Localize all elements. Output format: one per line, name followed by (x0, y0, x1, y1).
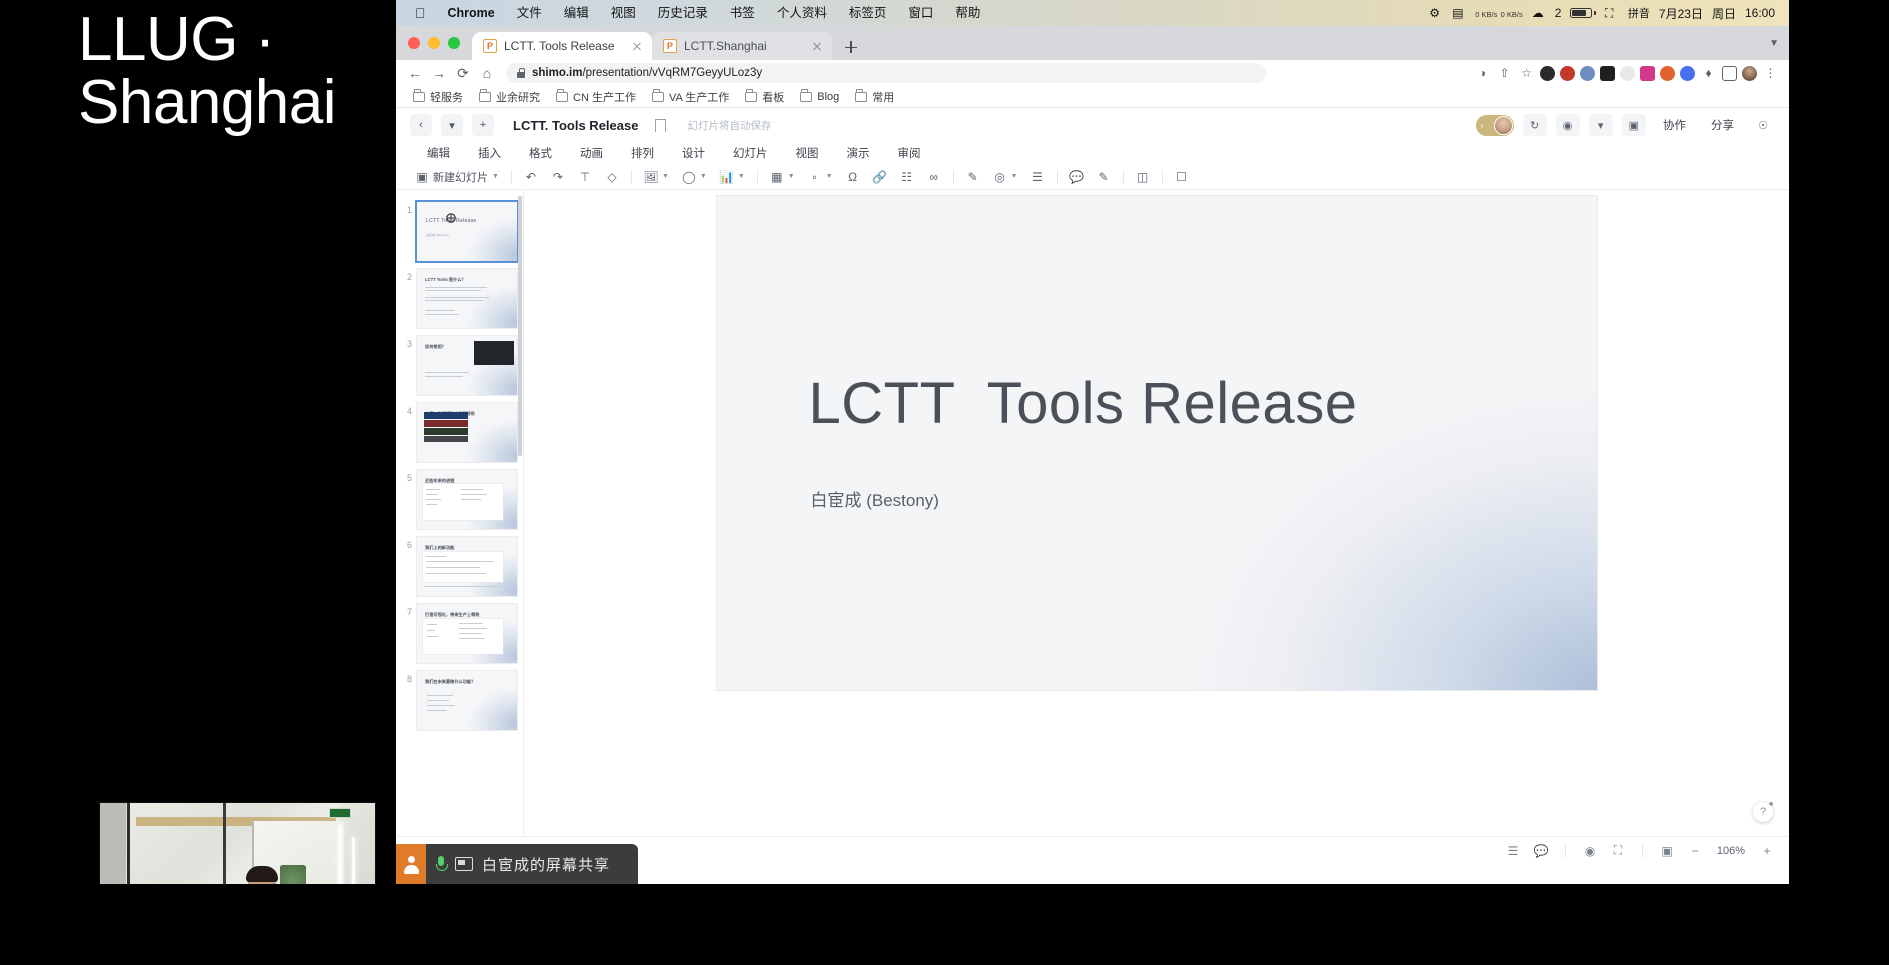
bookmark-label: 业余研究 (496, 89, 540, 105)
browser-tab-lctt-tools-release[interactable]: P LCTT. Tools Release (472, 32, 652, 60)
forward-button[interactable]: → (428, 62, 450, 84)
network-speed-indicator[interactable]: 0 KB/s 0 KB/s (1475, 6, 1523, 20)
address-bar[interactable]: shimo.im/presentation/vVqRM7GeyyULoz3y (506, 63, 1266, 83)
insert-shape-button[interactable]: ◯▼ (677, 168, 712, 186)
logo-line-2: Shanghai (78, 68, 336, 137)
note-icon: ◫ (1136, 170, 1150, 184)
frame-icon: ☐ (1175, 170, 1189, 184)
app-add-button[interactable]: + (472, 114, 494, 136)
slide-thumb-canvas[interactable]: 我们上的新功能 (417, 537, 517, 596)
animation-button[interactable]: ◎▼ (988, 168, 1023, 186)
highlight-button[interactable]: ✎ (1092, 168, 1116, 186)
projector-button[interactable]: ▣ (1622, 114, 1646, 136)
redo-icon: ↷ (551, 170, 565, 184)
app-menu-edit[interactable]: 编辑 (414, 145, 463, 161)
slide-thumbnail-5[interactable]: 5 近些年来的进程 (396, 466, 523, 533)
slide-thumb-canvas[interactable]: 我们在未来要做什么功能？ (417, 671, 517, 730)
close-window-button[interactable] (408, 37, 420, 49)
link-icon: 🔗 (873, 170, 887, 184)
slide-thumb-subtitle: 白宦成 (Bestony) (426, 233, 449, 237)
slide-thumbnail-7[interactable]: 7 打造可视化，带来生产上等效 (396, 600, 523, 667)
fullscreen-icon[interactable]: ⛶ (1610, 843, 1626, 859)
insert-connector-button[interactable]: ∞ (922, 168, 946, 186)
bookmark-label: Blog (817, 91, 839, 103)
folder-icon (556, 92, 568, 102)
bookmark-cn-production[interactable]: CN 生产工作 (549, 87, 643, 107)
app-menu-review[interactable]: 审阅 (885, 145, 934, 161)
slide-thumbnail-1[interactable]: 1 LCTT Tools Release 白宦成 (Bestony) (396, 198, 523, 265)
chevron-down-icon[interactable]: ▼ (1769, 38, 1779, 49)
network-upload: 0 KB/s (1475, 10, 1497, 19)
slide-title-text[interactable]: LCTT Tools Release (809, 370, 1358, 437)
menubar-item-bookmarks[interactable]: 书签 (719, 0, 766, 26)
bookmark-qingfuwu[interactable]: 轻服务 (406, 87, 470, 107)
webcam-speaker-hair (246, 866, 278, 882)
slide-thumb-canvas[interactable]: 打造可视化，带来生产上等效 (417, 604, 517, 663)
slide-number: 5 (400, 470, 412, 483)
extension-icon-3[interactable] (1580, 66, 1595, 81)
display-icon[interactable]: ▤ (1452, 6, 1466, 20)
zoom-in-button[interactable]: + (1759, 843, 1775, 859)
document-title[interactable]: LCTT. Tools Release (513, 118, 638, 133)
slide-thumb-title: 我们在未来要做什么功能？ (425, 679, 475, 685)
logo-line-1: LLUG · (78, 5, 275, 74)
slide-subtitle-text[interactable]: 白宦成 (Bestony) (811, 486, 939, 511)
profile-avatar[interactable] (1742, 66, 1757, 81)
cloud-icon[interactable]: ☁ (1532, 6, 1546, 20)
folder-icon (413, 92, 425, 102)
share-icon[interactable]: ⇧ (1496, 65, 1513, 82)
slide-number: 3 (400, 336, 412, 349)
slide-thumbnail-6[interactable]: 6 我们上的新功能 (396, 533, 523, 600)
chrome-menu-icon[interactable]: ⋮ (1762, 65, 1779, 82)
extension-icon-6[interactable] (1640, 66, 1655, 81)
status-bar-actions: ☰ 💬 ◉ ⛶ ▣ − 106% + (1505, 843, 1775, 859)
input-method-indicator[interactable]: 拼音 (1628, 5, 1650, 21)
menubar-date[interactable]: 7月23日 (1659, 5, 1703, 22)
extension-icon-5[interactable] (1620, 66, 1635, 81)
app-back-button[interactable]: ‹ (410, 114, 432, 136)
maximize-window-button[interactable] (448, 37, 460, 49)
slide-panel-scrollbar[interactable] (518, 196, 522, 456)
letterbox-right (1789, 0, 1889, 965)
comment-icon: 💬 (1070, 170, 1084, 184)
folder-icon (479, 92, 491, 102)
chart-icon: 📊 (720, 170, 734, 184)
bookmark-yeyu-yanjiu[interactable]: 业余研究 (472, 87, 547, 107)
close-tab-icon[interactable] (810, 39, 824, 53)
menubar-item-tabs[interactable]: 标签页 (838, 0, 898, 26)
bookmark-label: VA 生产工作 (669, 89, 729, 105)
pen-icon: ✎ (966, 170, 980, 184)
image-icon: 🖼 (644, 170, 658, 184)
tab-title: LCTT. Tools Release (504, 39, 623, 53)
network-download: 0 KB/s (1501, 10, 1523, 19)
bookmark-blog[interactable]: Blog (793, 89, 846, 105)
toolbar-divider (1123, 170, 1124, 184)
airplay-icon[interactable]: ⛶ (1605, 6, 1619, 20)
align-button[interactable]: ☰ (1026, 168, 1050, 186)
minimize-window-button[interactable] (428, 37, 440, 49)
new-slide-button[interactable]: ▣ 新建幻灯片 ▼ (410, 167, 504, 187)
slide-number: 6 (400, 537, 412, 550)
folder-icon (745, 92, 757, 102)
battery-body (1570, 8, 1592, 18)
comment-icon[interactable]: 💬 (1533, 843, 1549, 859)
browser-tab-strip: P LCTT. Tools Release P LCTT.Shanghai ▼ (396, 26, 1789, 60)
bookmark-label: 看板 (762, 89, 784, 105)
chevron-left-icon: ‹ (1481, 120, 1484, 130)
slide-thumb-terminal (474, 341, 514, 365)
animation-icon: ◎ (993, 170, 1007, 184)
apple-logo-icon[interactable]:  (404, 0, 437, 26)
app-body: 1 LCTT Tools Release 白宦成 (Bestony) 2 LCT… (396, 190, 1789, 836)
toolbar-divider (511, 170, 512, 184)
slide-thumb-title: 我们上的新功能 (425, 545, 454, 551)
slide-number: 1 (400, 202, 412, 215)
screen-share-label: 白宦成的屏幕共享 (482, 854, 610, 875)
microphone-icon[interactable] (435, 856, 446, 873)
insert-textbox-button[interactable]: ▫▼ (803, 168, 838, 186)
bookmark-label: 常用 (872, 89, 894, 105)
menubar-item-help[interactable]: 帮助 (944, 0, 991, 26)
slide-number: 7 (400, 604, 412, 617)
extensions-puzzle-icon[interactable]: ♦ (1700, 65, 1717, 82)
slide-background (417, 202, 517, 261)
extension-icon-8[interactable] (1680, 66, 1695, 81)
tab-favicon: P (483, 39, 497, 53)
menubar-item-chrome[interactable]: Chrome (437, 0, 506, 26)
grid-icon: ☷ (900, 170, 914, 184)
table-icon: ▦ (770, 170, 784, 184)
chevron-down-icon[interactable]: ▼ (826, 173, 833, 180)
home-button[interactable]: ⌂ (476, 62, 498, 84)
chevron-down-icon[interactable]: ▼ (662, 173, 669, 180)
insert-link-button[interactable]: 🔗 (868, 168, 892, 186)
new-slide-label: 新建幻灯片 (433, 169, 488, 185)
statusbar-divider (1565, 844, 1566, 858)
macos-menubar:  Chrome 文件 编辑 视图 历史记录 书签 个人资料 标签页 窗口 帮助… (396, 0, 1789, 26)
slide-number: 2 (400, 269, 412, 282)
lock-icon (517, 68, 525, 78)
toolbar-divider (1162, 170, 1163, 184)
avatar (1494, 116, 1513, 135)
translate-icon[interactable]: ◑ (1474, 65, 1491, 82)
screen-share-participant-badge[interactable] (396, 844, 426, 884)
folder-icon (652, 92, 664, 102)
insert-image-button[interactable]: 🖼▼ (639, 168, 674, 186)
highlight-icon: ✎ (1097, 170, 1111, 184)
browser-window:  Chrome 文件 编辑 视图 历史记录 书签 个人资料 标签页 窗口 帮助… (396, 0, 1789, 884)
app-menu-arrange[interactable]: 排列 (618, 145, 667, 161)
close-tab-icon[interactable] (630, 39, 644, 53)
menubar-item-edit[interactable]: 编辑 (553, 0, 600, 26)
chevron-down-icon[interactable]: ▼ (700, 173, 707, 180)
frame-button[interactable]: ☐ (1170, 168, 1194, 186)
statusbar-divider (1642, 844, 1643, 858)
slide-thumb-title: LCTT Tools 是什么？ (425, 277, 466, 283)
new-tab-button[interactable] (838, 34, 864, 60)
clear-format-button[interactable]: ◇ (600, 168, 624, 186)
webcam-exit-sign (329, 808, 351, 818)
menubar-item-view[interactable]: 视图 (600, 0, 647, 26)
fit-to-screen-icon[interactable]: ▣ (1659, 843, 1675, 859)
app-menubar: 编辑 插入 格式 动画 排列 设计 幻灯片 视图 演示 审阅 (396, 142, 1789, 164)
present-dropdown-button[interactable]: ▾ (1589, 114, 1613, 136)
bookmark-flag-icon[interactable] (655, 119, 666, 132)
tab-title: LCTT.Shanghai (684, 39, 803, 53)
back-button[interactable]: ← (404, 62, 426, 84)
app-menu-insert[interactable]: 插入 (465, 145, 514, 161)
app-header: ‹ ▾ + LCTT. Tools Release 幻灯片将自动保存 ‹ ↻ ◉… (396, 108, 1789, 142)
slide-thumbnail-panel[interactable]: 1 LCTT Tools Release 白宦成 (Bestony) 2 LCT… (396, 190, 524, 836)
extension-icon-4[interactable] (1600, 66, 1615, 81)
browser-toolbar: ← → ⟳ ⌂ shimo.im/presentation/vVqRM7Geyy… (396, 60, 1789, 86)
extension-icon-1[interactable] (1540, 66, 1555, 81)
zoom-out-button[interactable]: − (1687, 843, 1703, 859)
menubar-item-file[interactable]: 文件 (506, 0, 553, 26)
slide-thumb-canvas[interactable]: LCTT Tools Release 白宦成 (Bestony) (417, 202, 517, 261)
browser-tab-lctt-shanghai[interactable]: P LCTT.Shanghai (652, 32, 832, 60)
llug-shanghai-logo: LLUG · Shanghai (78, 8, 336, 134)
speaker-notes-icon[interactable]: ☰ (1505, 843, 1521, 859)
format-painter-icon: ⊤ (578, 170, 592, 184)
undo-button[interactable]: ↶ (519, 168, 543, 186)
format-painter-button[interactable]: ⊤ (573, 168, 597, 186)
shape-icon: ◯ (682, 170, 696, 184)
monitor-icon[interactable] (455, 857, 473, 871)
menubar-status-area: ⚙ ▤ 0 KB/s 0 KB/s ☁ 2 ⛶ 拼音 7月23日 周日 16:0… (1429, 5, 1781, 22)
slide-thumb-canvas[interactable]: LCTT Tools 是什么？ (417, 269, 517, 328)
bookmark-kanban[interactable]: 看板 (738, 87, 791, 107)
toolbar-divider (631, 170, 632, 184)
url-host: shimo.im (532, 67, 582, 79)
app-menu-present[interactable]: 演示 (834, 145, 883, 161)
app-dropdown-button[interactable]: ▾ (441, 114, 463, 136)
slide-thumbnail-3[interactable]: 3 如何使用？ (396, 332, 523, 399)
battery-cap (1594, 11, 1596, 15)
zoom-level-label[interactable]: 106% (1715, 845, 1747, 857)
notification-count[interactable]: 2 (1555, 6, 1562, 20)
autosave-status: 幻灯片将自动保存 (687, 118, 771, 133)
screen: LLUG · Shanghai  Chrome 文件 编辑 视图 (0, 0, 1889, 965)
folder-icon (855, 92, 867, 102)
textbox-icon: ▫ (808, 170, 822, 184)
chevron-down-icon[interactable]: ▼ (738, 173, 745, 180)
app-menu-slides[interactable]: 幻灯片 (720, 145, 781, 161)
bookmark-label: CN 生产工作 (573, 89, 636, 105)
bookmarks-bar: 轻服务 业余研究 CN 生产工作 VA 生产工作 看板 Blog 常用 (396, 86, 1789, 108)
align-icon: ☰ (1031, 170, 1045, 184)
slide-thumbnail-2[interactable]: 2 LCTT Tools 是什么？ (396, 265, 523, 332)
slide-number: 4 (400, 403, 412, 416)
clear-format-icon: ◇ (605, 170, 619, 184)
symbol-icon: Ω (846, 170, 860, 184)
battery-indicator[interactable] (1570, 8, 1596, 18)
folder-icon (800, 92, 812, 102)
url-path: /presentation/vVqRM7GeyyULoz3y (582, 67, 762, 79)
comment-button[interactable]: 💬 (1065, 168, 1089, 186)
menubar-item-profile[interactable]: 个人资料 (766, 0, 838, 26)
slide-thumb-title: 打造可视化，带来生产上等效 (425, 612, 479, 618)
extension-icon-2[interactable] (1560, 66, 1575, 81)
bookmark-va-production[interactable]: VA 生产工作 (645, 87, 736, 107)
letterbox-bottom (0, 884, 1889, 965)
slide-canvas-area[interactable]: LCTT Tools Release 白宦成 (Bestony) ? (524, 190, 1789, 836)
slide-thumb-canvas[interactable]: 如何使用？ (417, 336, 517, 395)
new-slide-icon: ▣ (415, 170, 429, 184)
app-menu-view[interactable]: 视图 (783, 145, 832, 161)
toolbar-divider (953, 170, 954, 184)
reload-button[interactable]: ⟳ (452, 62, 474, 84)
version-history-button[interactable]: ↻ (1523, 114, 1547, 136)
pen-button[interactable]: ✎ (961, 168, 985, 186)
chevron-down-icon[interactable]: ▼ (1011, 173, 1018, 180)
present-button[interactable]: ◉ (1556, 114, 1580, 136)
slide-thumb-canvas[interactable]: 在第一次运行时 / 使用说明 (417, 403, 517, 462)
browser-toolbar-right: ◑ ⇧ ☆ ♦ ⋮ (1474, 65, 1781, 82)
collaborator-avatar[interactable]: ‹ (1476, 115, 1514, 136)
screen-share-bar[interactable]: 白宦成的屏幕共享 (396, 844, 638, 884)
note-button[interactable]: ◫ (1131, 168, 1155, 186)
undo-icon: ↶ (524, 170, 538, 184)
insert-grid-button[interactable]: ☷ (895, 168, 919, 186)
help-fab-button[interactable]: ? (1753, 802, 1773, 822)
app-menu-design[interactable]: 设计 (669, 145, 718, 161)
share-button[interactable]: 分享 (1703, 117, 1742, 133)
toolbar-divider (1057, 170, 1058, 184)
sidepanel-icon[interactable] (1722, 66, 1737, 81)
menubar-item-window[interactable]: 窗口 (897, 0, 944, 26)
connector-icon: ∞ (927, 170, 941, 184)
play-icon[interactable]: ◉ (1582, 843, 1598, 859)
slide-thumbnail-4[interactable]: 4 在第一次运行时 / 使用说明 (396, 399, 523, 466)
toolbar-divider (757, 170, 758, 184)
app-header-actions: ‹ ↻ ◉ ▾ ▣ 协作 分享 ☉ (1476, 114, 1775, 136)
insert-chart-button[interactable]: 📊▼ (715, 168, 750, 186)
insert-table-button[interactable]: ▦▼ (765, 168, 800, 186)
bookmark-label: 轻服务 (430, 89, 463, 105)
slide-number: 8 (400, 671, 412, 684)
app-format-toolbar: ▣ 新建幻灯片 ▼ ↶ ↷ ⊤ ◇ 🖼▼ ◯▼ 📊▼ ▦▼ ▫▼ Ω 🔗 ☷ (396, 164, 1789, 190)
collaborate-button[interactable]: 协作 (1655, 117, 1694, 133)
bluetooth-icon[interactable]: ⚙ (1429, 6, 1443, 20)
app-menu-format[interactable]: 格式 (516, 145, 565, 161)
address-bar-url: shimo.im/presentation/vVqRM7GeyyULoz3y (532, 67, 762, 79)
mouse-cursor (445, 212, 457, 224)
help-button[interactable]: ☉ (1751, 114, 1775, 136)
redo-button[interactable]: ↷ (546, 168, 570, 186)
slide-thumb-title: 如何使用？ (425, 344, 446, 350)
shimo-presentation-app: ‹ ▾ + LCTT. Tools Release 幻灯片将自动保存 ‹ ↻ ◉… (396, 108, 1789, 864)
insert-symbol-button[interactable]: Ω (841, 168, 865, 186)
slide-thumb-canvas[interactable]: 近些年来的进程 (417, 470, 517, 529)
chevron-down-icon[interactable]: ▼ (492, 173, 499, 180)
battery-fill (1572, 10, 1586, 16)
tab-favicon: P (663, 39, 677, 53)
current-slide[interactable]: LCTT Tools Release 白宦成 (Bestony) (717, 196, 1597, 690)
menubar-item-history[interactable]: 历史记录 (647, 0, 719, 26)
app-menu-animation[interactable]: 动画 (567, 145, 616, 161)
bookmark-star-icon[interactable]: ☆ (1518, 65, 1535, 82)
chevron-down-icon[interactable]: ▼ (788, 173, 795, 180)
extension-icon-7[interactable] (1660, 66, 1675, 81)
bookmark-changyong[interactable]: 常用 (848, 87, 901, 107)
menubar-weekday[interactable]: 周日 (1712, 5, 1736, 22)
slide-thumbnail-8[interactable]: 8 我们在未来要做什么功能？ (396, 667, 523, 734)
window-traffic-lights (406, 26, 472, 60)
menubar-clock[interactable]: 16:00 (1745, 6, 1775, 20)
person-icon (403, 856, 419, 873)
